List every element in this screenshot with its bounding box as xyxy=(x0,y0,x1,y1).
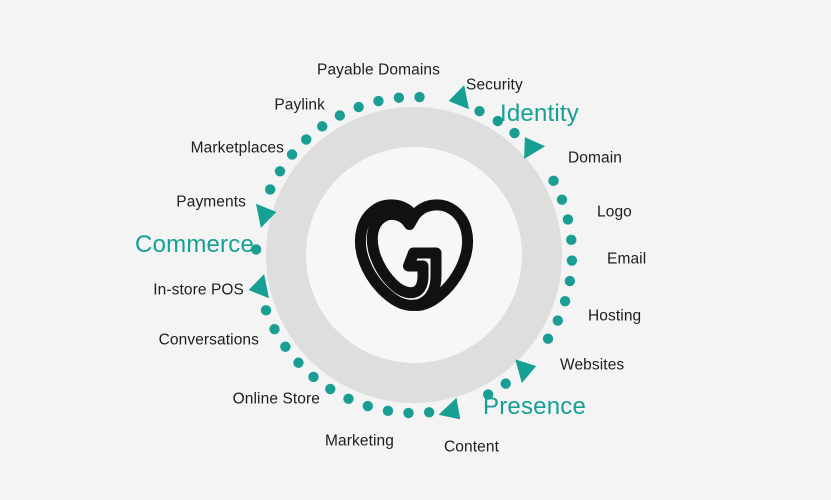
ring-dot xyxy=(325,384,335,394)
ring-dot xyxy=(474,106,484,116)
spoke-label-content: Content xyxy=(444,439,499,455)
go-logo-icon xyxy=(351,196,477,314)
ring-dot xyxy=(265,184,275,194)
ring-dot xyxy=(543,334,553,344)
pillar-label-commerce: Commerce xyxy=(135,233,254,257)
ring-dot xyxy=(373,96,383,106)
ring-dot xyxy=(353,102,363,112)
ring-dot xyxy=(509,128,519,138)
spoke-label-online-store: Online Store xyxy=(233,391,320,407)
ring-dot xyxy=(287,149,297,159)
spoke-label-marketing: Marketing xyxy=(325,433,394,449)
ring-dot xyxy=(557,194,567,204)
spoke-label-paylink: Paylink xyxy=(274,97,325,113)
ring-dot xyxy=(566,235,576,245)
ring-dot xyxy=(383,406,393,416)
ring-dot xyxy=(394,93,404,103)
ring-dot xyxy=(308,372,318,382)
spoke-label-email: Email xyxy=(607,251,646,267)
ring-dot xyxy=(565,276,575,286)
ring-dot xyxy=(560,296,570,306)
godaddy-go-logo xyxy=(351,196,477,314)
ring-dot xyxy=(414,92,424,102)
spoke-label-conversations: Conversations xyxy=(159,332,259,348)
ring-dot xyxy=(293,358,303,368)
ring-dot xyxy=(548,176,558,186)
ring-dot xyxy=(403,408,413,418)
spoke-label-domain: Domain xyxy=(568,150,622,166)
spoke-label-security: Security xyxy=(466,77,523,93)
spoke-label-payments: Payments xyxy=(176,194,246,210)
ring-dot xyxy=(343,394,353,404)
ring-dot xyxy=(275,166,285,176)
spoke-label-payable-domains: Payable Domains xyxy=(317,62,440,78)
ring-dot xyxy=(567,255,577,265)
pillar-label-presence: Presence xyxy=(483,395,586,419)
ring-dot xyxy=(269,324,279,334)
spoke-label-hosting: Hosting xyxy=(588,308,641,324)
spoke-label-websites: Websites xyxy=(560,357,624,373)
spoke-label-logo: Logo xyxy=(597,204,632,220)
ring-dot xyxy=(553,315,563,325)
ring-dot xyxy=(563,214,573,224)
ring-dot xyxy=(335,110,345,120)
ring-dot xyxy=(317,121,327,131)
spoke-label-marketplaces: Marketplaces xyxy=(191,140,284,156)
ring-dot xyxy=(424,407,434,417)
spoke-label-in-store-pos: In-store POS xyxy=(153,282,244,298)
godaddy-ecosystem-diagram: SecurityDomainLogoEmailHostingWebsitesCo… xyxy=(0,0,831,500)
ring-dot xyxy=(501,378,511,388)
pillar-label-identity: Identity xyxy=(500,102,579,126)
ring-dot xyxy=(301,134,311,144)
ring-dot xyxy=(261,305,271,315)
ring-dot xyxy=(363,401,373,411)
ring-dot xyxy=(280,342,290,352)
